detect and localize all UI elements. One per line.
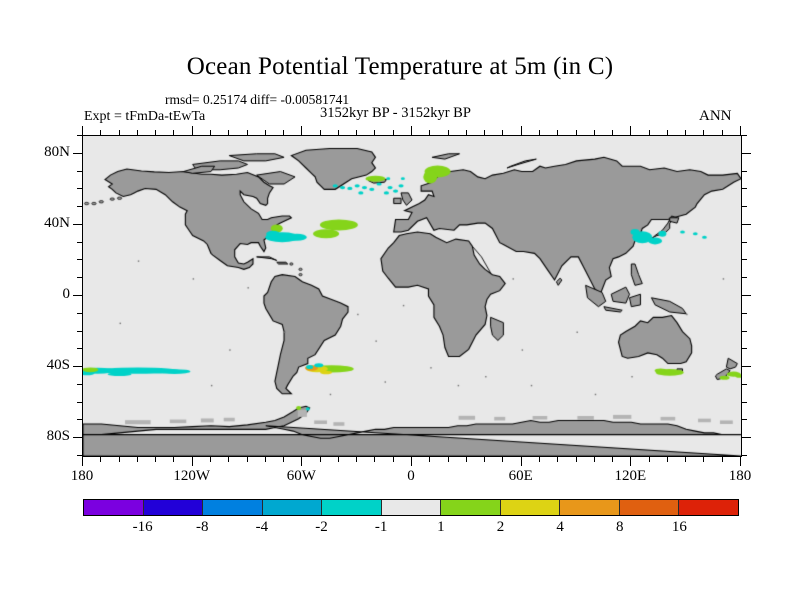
- colorbar-tick-label: -1: [375, 518, 388, 536]
- x-axis-tick: [576, 457, 577, 462]
- y-axis-tick: [77, 242, 82, 243]
- x-axis-tick-top: [429, 130, 430, 135]
- y-axis-tick: [77, 135, 82, 136]
- x-axis-tick-top: [630, 126, 631, 135]
- y-axis-label: 0: [4, 286, 70, 303]
- x-axis-tick-top: [740, 126, 741, 135]
- x-axis-tick: [521, 457, 522, 466]
- x-axis-tick-top: [247, 130, 248, 135]
- x-axis-tick: [155, 457, 156, 462]
- y-axis-tick-right: [742, 153, 751, 154]
- y-axis-tick: [73, 437, 82, 438]
- colorbar-segment: [620, 500, 680, 515]
- x-axis-tick-top: [393, 130, 394, 135]
- y-axis-tick: [73, 153, 82, 154]
- x-axis-tick-top: [685, 130, 686, 135]
- x-axis-tick: [594, 457, 595, 462]
- y-axis-tick: [77, 206, 82, 207]
- y-axis-tick: [73, 366, 82, 367]
- x-axis-tick: [192, 457, 193, 466]
- y-axis-tick-right: [742, 171, 747, 172]
- colorbar-tick-label: 1: [437, 518, 445, 536]
- x-axis-tick: [320, 457, 321, 462]
- x-axis-tick-top: [228, 130, 229, 135]
- x-axis-tick: [649, 457, 650, 462]
- x-axis-tick-top: [594, 130, 595, 135]
- y-axis-tick-right: [742, 402, 747, 403]
- x-axis-tick: [393, 457, 394, 462]
- colorbar-segment: [322, 500, 382, 515]
- experiment-label: Expt = tFmDa-tEwTa: [84, 108, 205, 125]
- y-axis-tick: [77, 171, 82, 172]
- x-axis-tick: [539, 457, 540, 462]
- x-axis-tick-top: [173, 130, 174, 135]
- x-axis-tick: [740, 457, 741, 466]
- x-axis-tick-top: [612, 130, 613, 135]
- y-axis-tick-right: [742, 384, 747, 385]
- colorbar-segment: [382, 500, 442, 515]
- colorbar-tick-label: -8: [196, 518, 209, 536]
- x-axis-tick-top: [411, 126, 412, 135]
- x-axis-tick-top: [466, 130, 467, 135]
- x-axis-tick: [374, 457, 375, 462]
- x-axis-tick: [630, 457, 631, 466]
- x-axis-tick-top: [374, 130, 375, 135]
- x-axis-tick: [301, 457, 302, 466]
- y-axis-tick-right: [742, 206, 747, 207]
- y-axis-tick: [73, 295, 82, 296]
- colorbar-segment: [144, 500, 204, 515]
- time-period-label: 3152kyr BP - 3152kyr BP: [320, 105, 471, 122]
- x-axis-tick: [283, 457, 284, 462]
- page-title: Ocean Potential Temperature at 5m (in C): [0, 52, 800, 82]
- y-axis-tick-right: [742, 188, 747, 189]
- x-axis-tick: [557, 457, 558, 462]
- colorbar-tick-label: -2: [315, 518, 328, 536]
- x-axis-label: 180: [700, 468, 780, 485]
- y-axis-tick: [77, 384, 82, 385]
- colorbar-tick-label: 2: [497, 518, 505, 536]
- colorbar-segment: [263, 500, 323, 515]
- x-axis-tick: [119, 457, 120, 462]
- y-axis-tick: [77, 348, 82, 349]
- x-axis-tick: [356, 457, 357, 462]
- x-axis-tick: [722, 457, 723, 462]
- x-axis-tick-top: [210, 130, 211, 135]
- y-axis-label: 40S: [4, 357, 70, 374]
- y-axis-tick-right: [742, 437, 751, 438]
- y-axis-tick-right: [742, 455, 747, 456]
- x-axis-tick-top: [82, 126, 83, 135]
- colorbar-segment: [441, 500, 501, 515]
- y-axis-tick: [77, 313, 82, 314]
- x-axis-tick: [82, 457, 83, 466]
- x-axis-tick: [247, 457, 248, 462]
- x-axis-tick-top: [502, 130, 503, 135]
- colorbar-tick-label: 8: [616, 518, 624, 536]
- x-axis-tick-top: [521, 126, 522, 135]
- x-axis-tick: [265, 457, 266, 462]
- y-axis-label: 80N: [4, 144, 70, 161]
- x-axis-tick: [448, 457, 449, 462]
- colorbar-tick-label: -16: [133, 518, 153, 536]
- y-axis-tick: [77, 277, 82, 278]
- y-axis-label: 40N: [4, 215, 70, 232]
- x-axis-tick: [703, 457, 704, 462]
- x-axis-tick: [466, 457, 467, 462]
- x-axis-tick: [484, 457, 485, 462]
- y-axis-tick-right: [742, 295, 751, 296]
- x-axis-tick-top: [484, 130, 485, 135]
- y-axis-tick: [73, 224, 82, 225]
- x-axis-tick-top: [448, 130, 449, 135]
- y-axis-tick-right: [742, 331, 747, 332]
- x-axis-tick: [502, 457, 503, 462]
- y-axis-tick-right: [742, 224, 751, 225]
- x-axis-tick: [685, 457, 686, 462]
- y-axis-tick: [77, 455, 82, 456]
- y-axis-tick-right: [742, 277, 747, 278]
- x-axis-tick-top: [557, 130, 558, 135]
- y-axis-tick-right: [742, 259, 747, 260]
- y-axis-tick: [77, 402, 82, 403]
- y-axis-tick-right: [742, 242, 747, 243]
- colorbar-segment: [501, 500, 561, 515]
- x-axis-tick-top: [576, 130, 577, 135]
- y-axis-tick-right: [742, 313, 747, 314]
- x-axis-label: 0: [371, 468, 451, 485]
- colorbar-tick-label: -4: [256, 518, 269, 536]
- y-axis-tick-right: [742, 366, 751, 367]
- x-axis-tick-top: [356, 130, 357, 135]
- x-axis-tick-top: [283, 130, 284, 135]
- y-axis-label: 80S: [4, 428, 70, 445]
- x-axis-tick: [137, 457, 138, 462]
- colorbar-segment: [679, 500, 738, 515]
- y-axis-tick-right: [742, 419, 747, 420]
- y-axis-tick: [77, 331, 82, 332]
- y-axis-tick-right: [742, 135, 747, 136]
- x-axis-tick-top: [649, 130, 650, 135]
- y-axis-tick-right: [742, 348, 747, 349]
- colorbar: [83, 499, 739, 516]
- x-axis-tick-top: [137, 130, 138, 135]
- x-axis-label: 120E: [590, 468, 670, 485]
- x-axis-tick-top: [539, 130, 540, 135]
- x-axis-tick-top: [703, 130, 704, 135]
- x-axis-tick-top: [301, 126, 302, 135]
- x-axis-label: 60E: [481, 468, 561, 485]
- colorbar-tick-label: 4: [556, 518, 564, 536]
- x-axis-tick-top: [119, 130, 120, 135]
- x-axis-tick-top: [155, 130, 156, 135]
- x-axis-tick: [173, 457, 174, 462]
- colorbar-segment: [203, 500, 263, 515]
- map-plot-area: [82, 135, 742, 457]
- map-canvas: [83, 136, 741, 456]
- x-axis-tick: [338, 457, 339, 462]
- x-axis-tick-top: [320, 130, 321, 135]
- x-axis-tick: [429, 457, 430, 462]
- y-axis-tick: [77, 419, 82, 420]
- x-axis-tick: [667, 457, 668, 462]
- x-axis-tick-top: [722, 130, 723, 135]
- y-axis-tick: [77, 188, 82, 189]
- x-axis-tick: [411, 457, 412, 466]
- x-axis-tick: [228, 457, 229, 462]
- x-axis-label: 60W: [261, 468, 341, 485]
- season-label: ANN: [699, 107, 732, 125]
- x-axis-tick: [210, 457, 211, 462]
- x-axis-label: 120W: [152, 468, 232, 485]
- colorbar-segment: [560, 500, 620, 515]
- x-axis-tick-top: [667, 130, 668, 135]
- colorbar-tick-label: 16: [672, 518, 687, 536]
- x-axis-tick: [100, 457, 101, 462]
- x-axis-label: 180: [42, 468, 122, 485]
- y-axis-tick: [77, 259, 82, 260]
- x-axis-tick-top: [338, 130, 339, 135]
- colorbar-segment: [84, 500, 144, 515]
- x-axis-tick-top: [192, 126, 193, 135]
- x-axis-tick-top: [265, 130, 266, 135]
- x-axis-tick: [612, 457, 613, 462]
- x-axis-tick-top: [100, 130, 101, 135]
